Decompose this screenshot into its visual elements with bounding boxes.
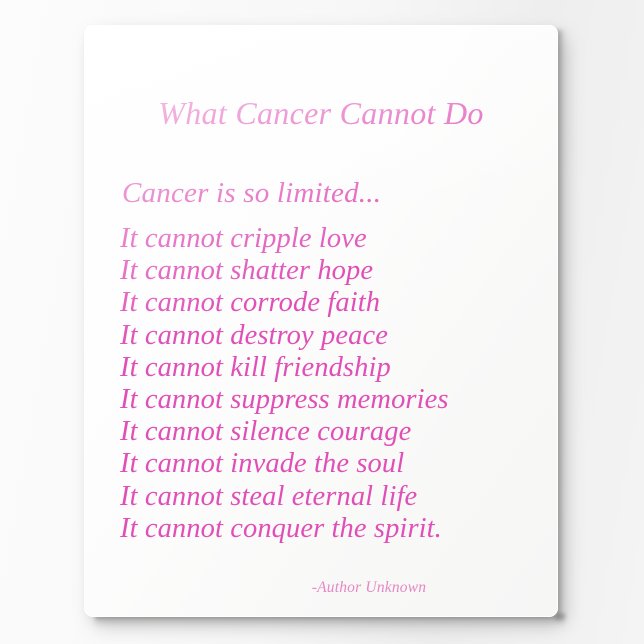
poem-line: It cannot conquer the spirit. xyxy=(120,513,550,545)
plaque-scene: What Cancer Cannot Do Cancer is so limit… xyxy=(0,0,644,644)
memorial-plaque: What Cancer Cannot Do Cancer is so limit… xyxy=(84,25,558,617)
poem-line: It cannot shatter hope xyxy=(120,255,550,287)
poem-line: It cannot kill friendship xyxy=(120,352,550,384)
poem-line: It cannot invade the soul xyxy=(120,448,550,480)
poem-line: It cannot silence courage xyxy=(120,416,550,448)
poem-body: It cannot cripple love It cannot shatter… xyxy=(120,223,550,545)
poem-line: It cannot suppress memories xyxy=(120,384,550,416)
poem-subtitle: Cancer is so limited... xyxy=(122,175,381,211)
poem-line: It cannot steal eternal life xyxy=(120,481,550,513)
poem-title: What Cancer Cannot Do xyxy=(84,94,558,132)
poem-line: It cannot corrode faith xyxy=(120,287,550,319)
poem-line: It cannot destroy peace xyxy=(120,320,550,352)
plaque-text-area: What Cancer Cannot Do Cancer is so limit… xyxy=(84,25,558,617)
poem-attribution: -Author Unknown xyxy=(84,579,558,597)
poem-line: It cannot cripple love xyxy=(120,223,550,255)
